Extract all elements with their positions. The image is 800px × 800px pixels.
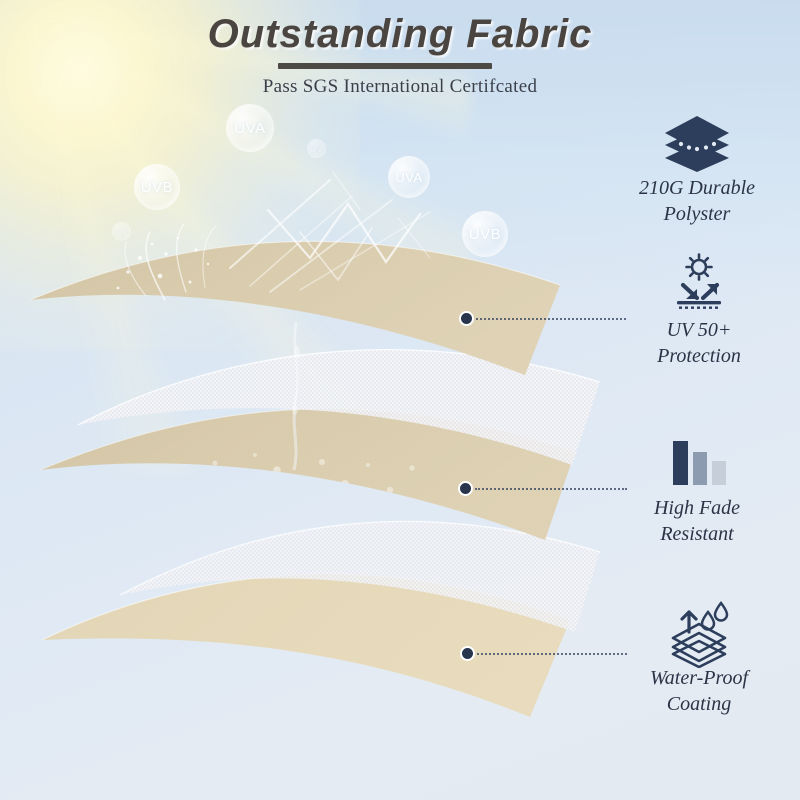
feature-label-durable-polyster: 210G Durable Polyster	[602, 176, 792, 227]
page-subtitle: Pass SGS International Certifcated	[0, 76, 800, 98]
uv-bubble-uva-2: UVA	[388, 156, 430, 198]
fabric-layer-stack	[0, 0, 620, 800]
feature-label-uv-protection: UV 50+ Protection	[604, 318, 794, 369]
infographic-canvas: Outstanding Fabric Pass SGS Internationa…	[0, 0, 800, 800]
uv-bubble-label: UVB	[469, 226, 501, 243]
water-repellent-layers-icon	[604, 600, 794, 666]
feature-label-line2: Protection	[604, 344, 794, 370]
uv-bubble-uvb-1: UVB	[134, 164, 180, 210]
feature-label-line1: 210G Durable	[602, 176, 792, 202]
feature-water-proof[interactable]: Water-Proof Coating	[604, 600, 794, 717]
feature-label-line2: Polyster	[602, 202, 792, 228]
feature-label-water-proof: Water-Proof Coating	[604, 666, 794, 717]
hotspot-water-proof[interactable]	[460, 646, 475, 661]
feature-fade-resistant[interactable]: High Fade Resistant	[602, 430, 792, 547]
feature-label-line2: Coating	[604, 692, 794, 718]
uv-bubble-label: UVA	[234, 120, 265, 137]
fade-bars-icon	[602, 430, 792, 496]
hotspot-durable-polyster[interactable]	[459, 311, 474, 326]
page-title: Outstanding Fabric	[0, 12, 800, 57]
title-underline	[278, 63, 492, 69]
uv-bubble-small-1: UV	[307, 139, 326, 158]
stacked-layers-icon	[602, 110, 792, 176]
uv-bubble-uva-1: UVA	[226, 104, 274, 152]
feature-uv-protection[interactable]: UV 50+ Protection	[604, 252, 794, 369]
uv-bubble-label: UVB	[141, 179, 173, 196]
uv-bubble-label: UV	[115, 227, 129, 237]
hotspot-fade-resistant[interactable]	[458, 481, 473, 496]
uv-bubble-label: UV	[310, 144, 324, 154]
feature-label-line1: Water-Proof	[604, 666, 794, 692]
feature-label-line1: High Fade	[602, 496, 792, 522]
feature-label-line1: UV 50+	[604, 318, 794, 344]
sun-shield-icon	[604, 252, 794, 318]
uv-bubble-uvb-2: UVB	[462, 211, 508, 257]
feature-label-line2: Resistant	[602, 522, 792, 548]
uv-bubble-label: UVA	[395, 170, 422, 185]
feature-durable-polyster[interactable]: 210G Durable Polyster	[602, 110, 792, 227]
uv-bubble-small-2: UV	[112, 222, 131, 241]
feature-label-fade-resistant: High Fade Resistant	[602, 496, 792, 547]
